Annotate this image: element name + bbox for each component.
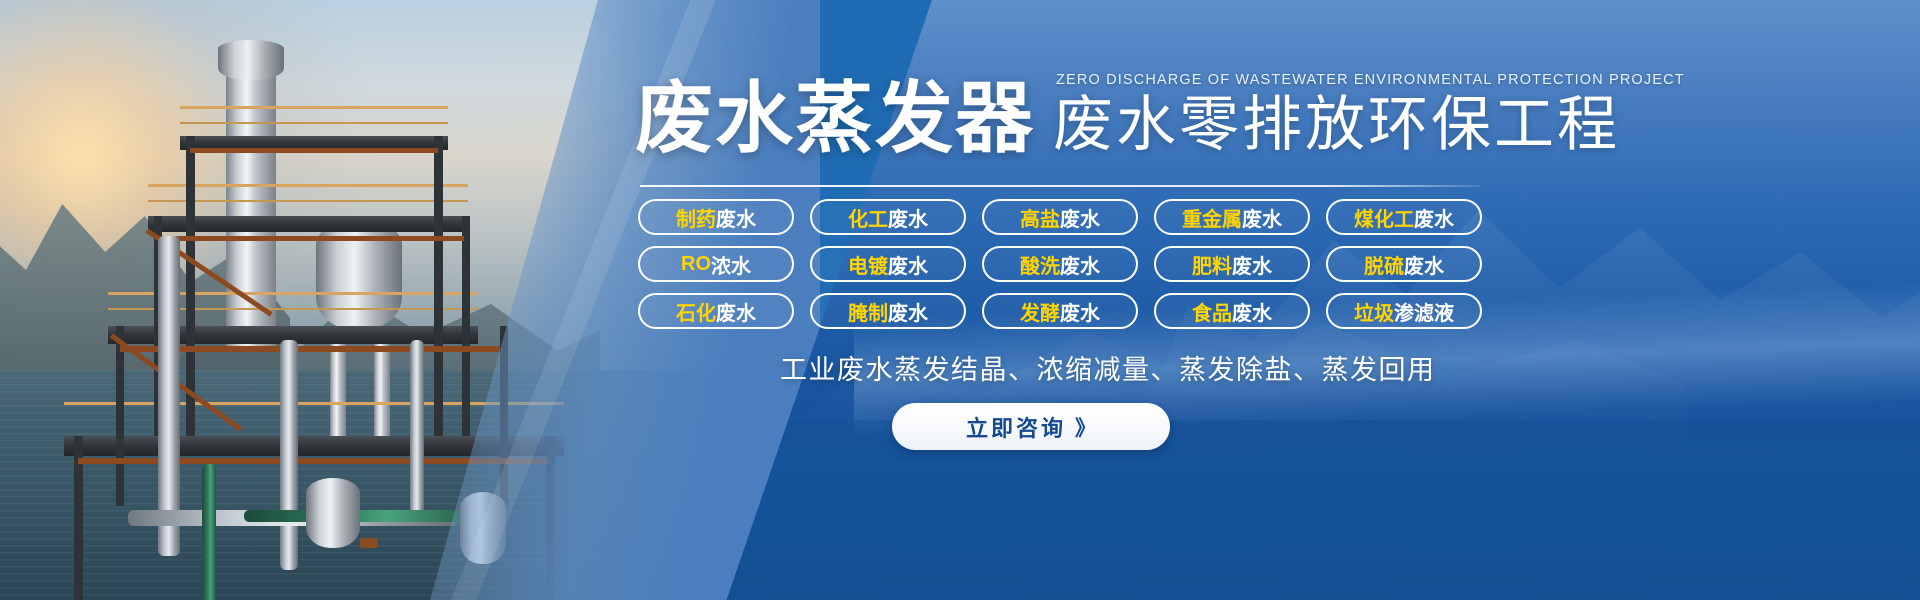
category-tag-suffix: 废水 <box>1414 203 1454 232</box>
category-tag-suffix: 废水 <box>1242 203 1282 232</box>
category-tag[interactable]: 制药废水 <box>638 199 794 235</box>
riser-pipe-main <box>158 236 180 556</box>
green-process-pipe <box>202 464 216 600</box>
brace-orange-a <box>190 148 438 153</box>
category-tag-highlight: 化工 <box>848 203 888 232</box>
frame-beam-d <box>462 216 470 436</box>
category-tag[interactable]: 垃圾渗滤液 <box>1326 293 1482 329</box>
consult-now-button[interactable]: 立即咨询 》 <box>892 403 1170 450</box>
category-tag[interactable]: 重金属废水 <box>1154 199 1310 235</box>
category-tag[interactable]: 化工废水 <box>810 199 966 235</box>
category-tag-suffix: 废水 <box>1404 250 1444 279</box>
category-tag-highlight: 制药 <box>676 203 716 232</box>
wastewater-category-tags: 制药废水化工废水高盐废水重金属废水煤化工废水RO浓水电镀废水酸洗废水肥料废水脱硫… <box>638 199 1482 329</box>
tag-row: 石化废水腌制废水发酵废水食品废水垃圾渗滤液 <box>638 293 1482 329</box>
riser-pipe-second <box>280 340 298 570</box>
consult-now-label: 立即咨询 <box>966 411 1066 443</box>
tag-row: RO浓水电镀废水酸洗废水肥料废水脱硫废水 <box>638 246 1482 282</box>
category-tag[interactable]: RO浓水 <box>638 246 794 282</box>
category-tag-suffix: 废水 <box>716 297 756 326</box>
elbow-pipe <box>410 340 424 520</box>
valve-handle <box>360 538 378 548</box>
title-divider <box>640 185 1480 187</box>
green-process-pipe-2 <box>244 510 484 522</box>
category-tag[interactable]: 肥料废水 <box>1154 246 1310 282</box>
brace-orange-b <box>158 236 464 241</box>
category-tag-suffix: 废水 <box>1232 250 1272 279</box>
railing-level-3 <box>148 184 468 187</box>
frame-beam-b <box>434 136 443 436</box>
category-tag-highlight: 酸洗 <box>1020 250 1060 279</box>
category-tag-highlight: 垃圾 <box>1354 297 1394 326</box>
title-secondary-block: ZERO DISCHARGE OF WASTEWATER ENVIRONMENT… <box>1053 72 1685 157</box>
category-tag[interactable]: 食品废水 <box>1154 293 1310 329</box>
category-tag-suffix: 废水 <box>1060 203 1100 232</box>
tag-row: 制药废水化工废水高盐废水重金属废水煤化工废水 <box>638 199 1482 235</box>
category-tag-suffix: 废水 <box>888 297 928 326</box>
category-tag[interactable]: 高盐废水 <box>982 199 1138 235</box>
pump-drum <box>306 478 360 548</box>
category-tag[interactable]: 煤化工废水 <box>1326 199 1482 235</box>
category-tag-suffix: 渗滤液 <box>1394 297 1454 326</box>
chevron-right-icon: 》 <box>1075 412 1096 442</box>
frame-beam-e <box>116 326 124 506</box>
category-tag[interactable]: 酸洗废水 <box>982 246 1138 282</box>
promo-banner: 废水蒸发器 ZERO DISCHARGE OF WASTEWATER ENVIR… <box>0 0 1920 600</box>
category-tag[interactable]: 腌制废水 <box>810 293 966 329</box>
category-tag-suffix: 废水 <box>888 250 928 279</box>
category-tag-suffix: 废水 <box>888 203 928 232</box>
category-tag-highlight: 重金属 <box>1182 203 1242 232</box>
category-tag[interactable]: 发酵废水 <box>982 293 1138 329</box>
deck-level-3 <box>148 216 468 232</box>
category-tag-highlight: 煤化工 <box>1354 203 1414 232</box>
category-tag-highlight: 高盐 <box>1020 203 1060 232</box>
railing-level-3-mid <box>148 200 468 202</box>
category-tag-suffix: 浓水 <box>711 250 751 279</box>
category-tag-suffix: 废水 <box>1060 297 1100 326</box>
vessel-support-2 <box>374 326 390 446</box>
railing-level-4-mid <box>180 122 448 124</box>
vessel-support <box>330 326 346 446</box>
title-subtitle: 废水零排放环保工程 <box>1053 95 1685 155</box>
category-tag-highlight: 腌制 <box>848 297 888 326</box>
title-block: 废水蒸发器 ZERO DISCHARGE OF WASTEWATER ENVIR… <box>635 72 1685 157</box>
category-tag-highlight: 脱硫 <box>1364 250 1404 279</box>
category-tag[interactable]: 石化废水 <box>638 293 794 329</box>
banner-content: 废水蒸发器 ZERO DISCHARGE OF WASTEWATER ENVIR… <box>620 0 1920 600</box>
title-english-subtitle: ZERO DISCHARGE OF WASTEWATER ENVIRONMENT… <box>1053 72 1685 88</box>
category-tag-highlight: 肥料 <box>1192 250 1232 279</box>
service-tagline: 工业废水蒸发结晶、浓缩减量、蒸发除盐、蒸发回用 <box>780 348 1436 387</box>
category-tag-highlight: 食品 <box>1192 297 1232 326</box>
evaporator-dome <box>218 40 284 80</box>
category-tag-suffix: 废水 <box>716 203 756 232</box>
railing-level-4 <box>180 106 448 109</box>
category-tag[interactable]: 脱硫废水 <box>1326 246 1482 282</box>
category-tag-suffix: 废水 <box>1232 297 1272 326</box>
category-tag-highlight: 发酵 <box>1020 297 1060 326</box>
category-tag-suffix: 废水 <box>1060 250 1100 279</box>
category-tag-highlight: 电镀 <box>848 250 888 279</box>
page-title: 废水蒸发器 <box>635 79 1035 157</box>
category-tag-highlight: RO <box>681 253 711 276</box>
category-tag[interactable]: 电镀废水 <box>810 246 966 282</box>
category-tag-highlight: 石化 <box>676 297 716 326</box>
